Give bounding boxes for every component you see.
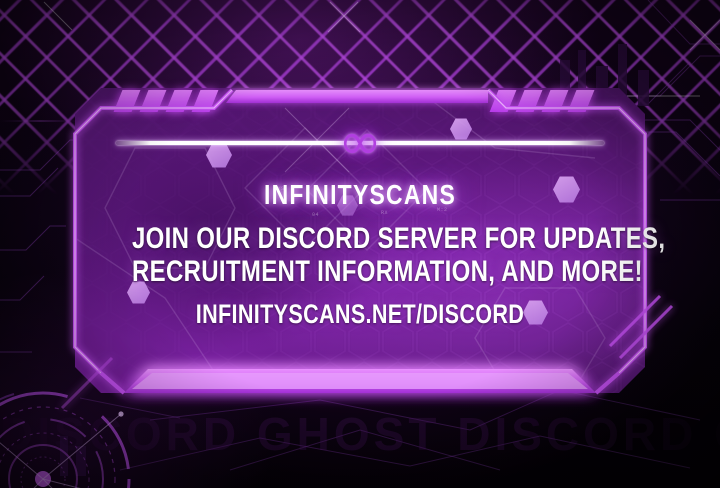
brand-title: INFINITYSCANS	[126, 179, 593, 211]
discord-url[interactable]: INFINITYSCANS.NET/DISCORD	[132, 299, 588, 330]
tagline-line-1: JOIN OUR DISCORD SERVER FOR UPDATES,	[132, 222, 588, 255]
banner-canvas: DISCORD GHOST DISCORD GHOST DISCORD	[0, 0, 720, 488]
tagline-line-2: RECRUITMENT INFORMATION, AND MORE!	[132, 255, 588, 288]
tagline: JOIN OUR DISCORD SERVER FOR UPDATES, REC…	[132, 222, 588, 288]
